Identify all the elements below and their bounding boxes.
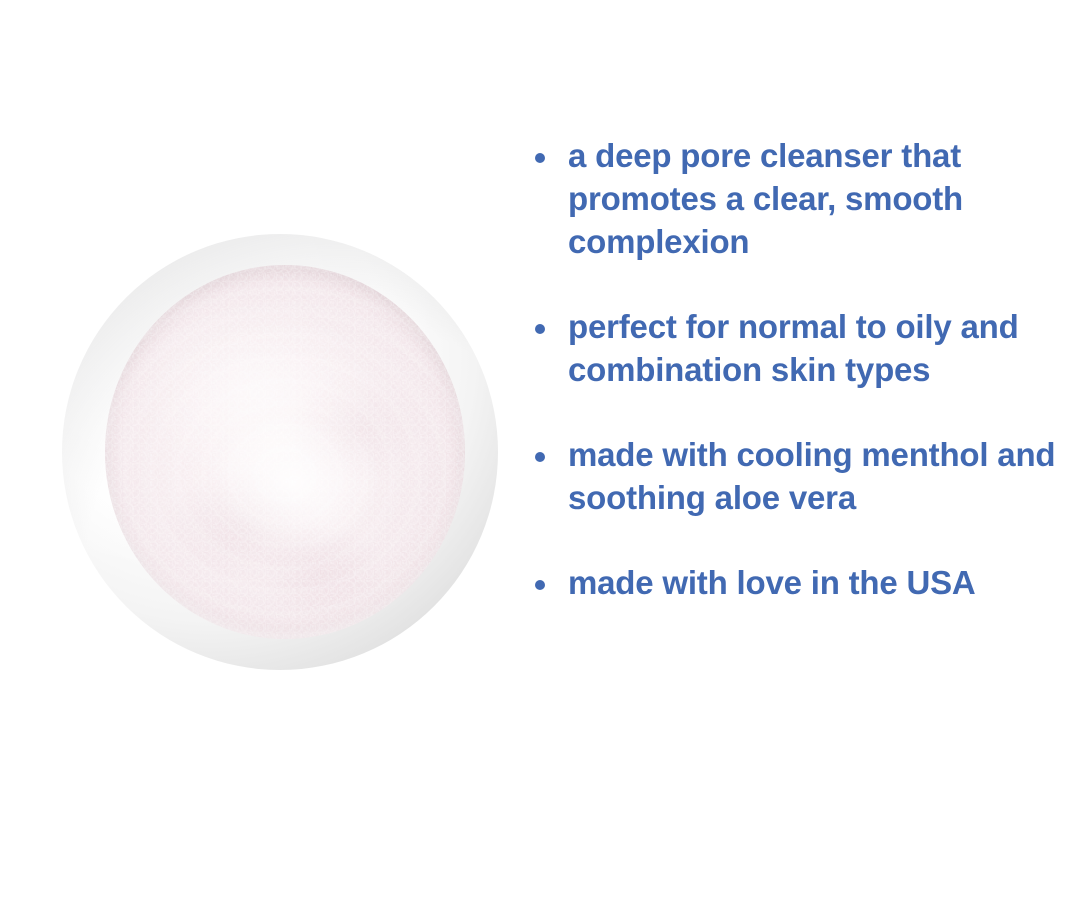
powder-surface [105, 265, 465, 639]
feature-text: perfect for normal to oily and combinati… [568, 305, 1069, 391]
feature-item: perfect for normal to oily and combinati… [530, 305, 1069, 391]
feature-bullet-list: a deep pore cleanser that promotes a cle… [530, 134, 1069, 604]
product-image-powder-bowl [62, 234, 498, 670]
bullet-dot-icon [535, 452, 545, 462]
bullet-dot-icon [535, 153, 545, 163]
powder-edge-vignette [105, 265, 465, 639]
feature-item: a deep pore cleanser that promotes a cle… [530, 134, 1069, 263]
bullet-dot-icon [535, 580, 545, 590]
feature-text: made with cooling menthol and soothing a… [568, 433, 1069, 519]
feature-item: made with cooling menthol and soothing a… [530, 433, 1069, 519]
feature-text: a deep pore cleanser that promotes a cle… [568, 134, 1069, 263]
feature-text: made with love in the USA [568, 561, 1069, 604]
bullet-dot-icon [535, 324, 545, 334]
product-feature-graphic: a deep pore cleanser that promotes a cle… [0, 0, 1069, 913]
feature-item: made with love in the USA [530, 561, 1069, 604]
